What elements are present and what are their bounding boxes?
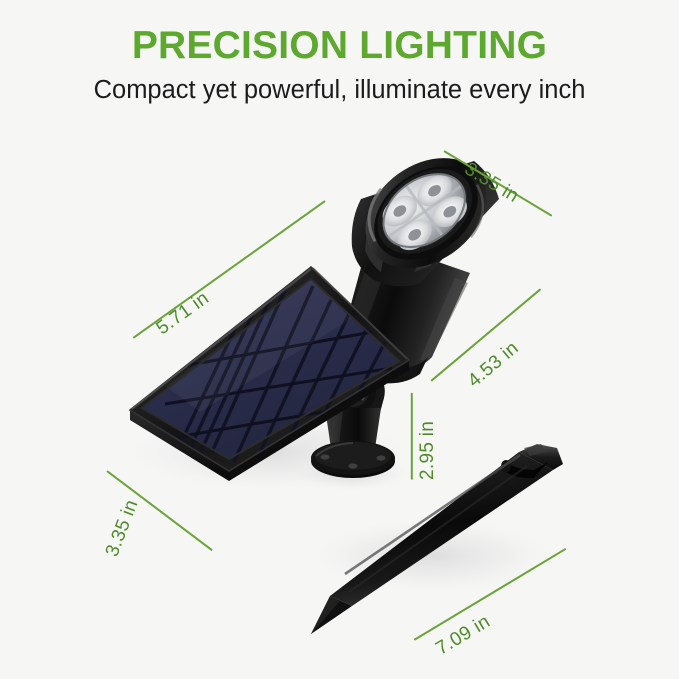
dimension-label-stake-length: 7.09 in <box>432 611 494 660</box>
page-title: PRECISION LIGHTING <box>0 24 679 68</box>
mounting-base <box>311 360 395 478</box>
dimension-label-panel-length: 5.71 in <box>153 288 214 340</box>
page-subtitle: Compact yet powerful, illuminate every i… <box>0 76 679 105</box>
solar-panel <box>130 267 409 494</box>
dimension-label-panel-width: 3.35 in <box>102 497 144 560</box>
swivel-joint <box>316 360 385 427</box>
dimension-label-head-width: 3.35 in <box>460 159 522 208</box>
product-infographic: PRECISION LIGHTING Compact yet powerful,… <box>0 0 679 679</box>
head-bezel <box>344 135 507 290</box>
dimension-line-base-height <box>411 393 413 480</box>
dimension-label-base-height: 2.95 in <box>417 421 439 480</box>
